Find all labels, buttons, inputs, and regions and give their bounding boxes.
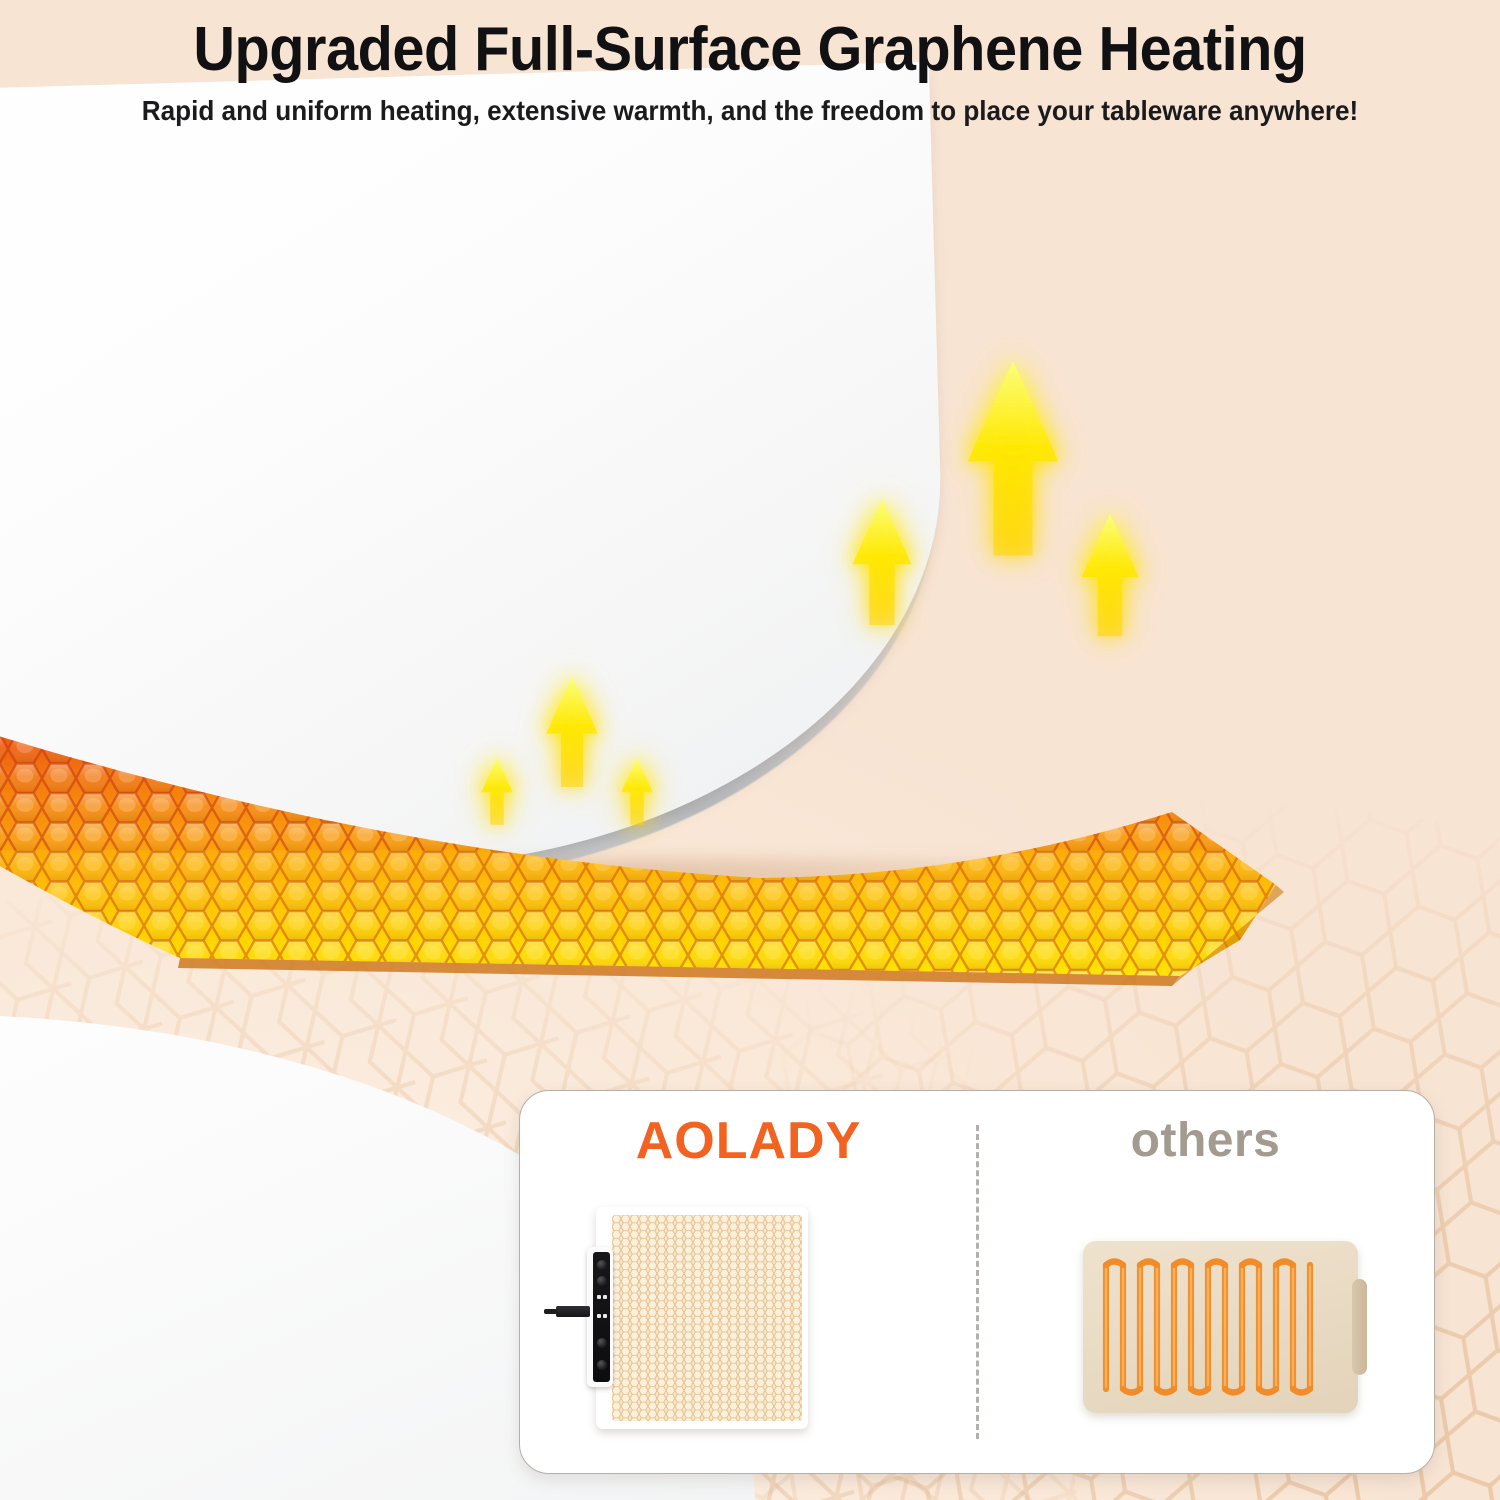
brand-product-honeycomb-surface bbox=[612, 1215, 802, 1421]
control-indicator-3 bbox=[597, 1314, 601, 1318]
rising-heat-arrows bbox=[0, 0, 1500, 1100]
page-subtitle: Rapid and uniform heating, extensive war… bbox=[38, 95, 1463, 127]
brand-product-image bbox=[596, 1207, 808, 1429]
product-feature-graphic: Upgraded Full-Surface Graphene Heating R… bbox=[0, 0, 1500, 1500]
others-label: others bbox=[1131, 1117, 1281, 1165]
others-product-serpentine-wire bbox=[1100, 1257, 1328, 1397]
control-indicator-2 bbox=[603, 1295, 607, 1299]
comparison-card: AOLADY bbox=[519, 1090, 1435, 1474]
power-cable-plug bbox=[556, 1306, 590, 1317]
control-button-3[interactable] bbox=[597, 1338, 607, 1348]
control-button-4[interactable] bbox=[597, 1360, 607, 1370]
comparison-column-others: others bbox=[977, 1091, 1434, 1473]
control-button-1[interactable] bbox=[597, 1260, 607, 1270]
others-product-side-tab bbox=[1352, 1279, 1367, 1375]
brand-product-control-panel[interactable] bbox=[587, 1247, 613, 1387]
control-indicator-4 bbox=[603, 1314, 607, 1318]
brand-label: AOLADY bbox=[636, 1115, 862, 1167]
page-title: Upgraded Full-Surface Graphene Heating bbox=[53, 18, 1448, 81]
control-panel-face bbox=[593, 1252, 610, 1382]
others-product-image bbox=[1083, 1241, 1358, 1413]
control-button-2[interactable] bbox=[597, 1276, 607, 1286]
comparison-column-brand: AOLADY bbox=[520, 1091, 977, 1473]
comparison-divider bbox=[976, 1125, 979, 1439]
control-indicator-1 bbox=[597, 1295, 601, 1299]
headline-block: Upgraded Full-Surface Graphene Heating R… bbox=[0, 18, 1500, 127]
